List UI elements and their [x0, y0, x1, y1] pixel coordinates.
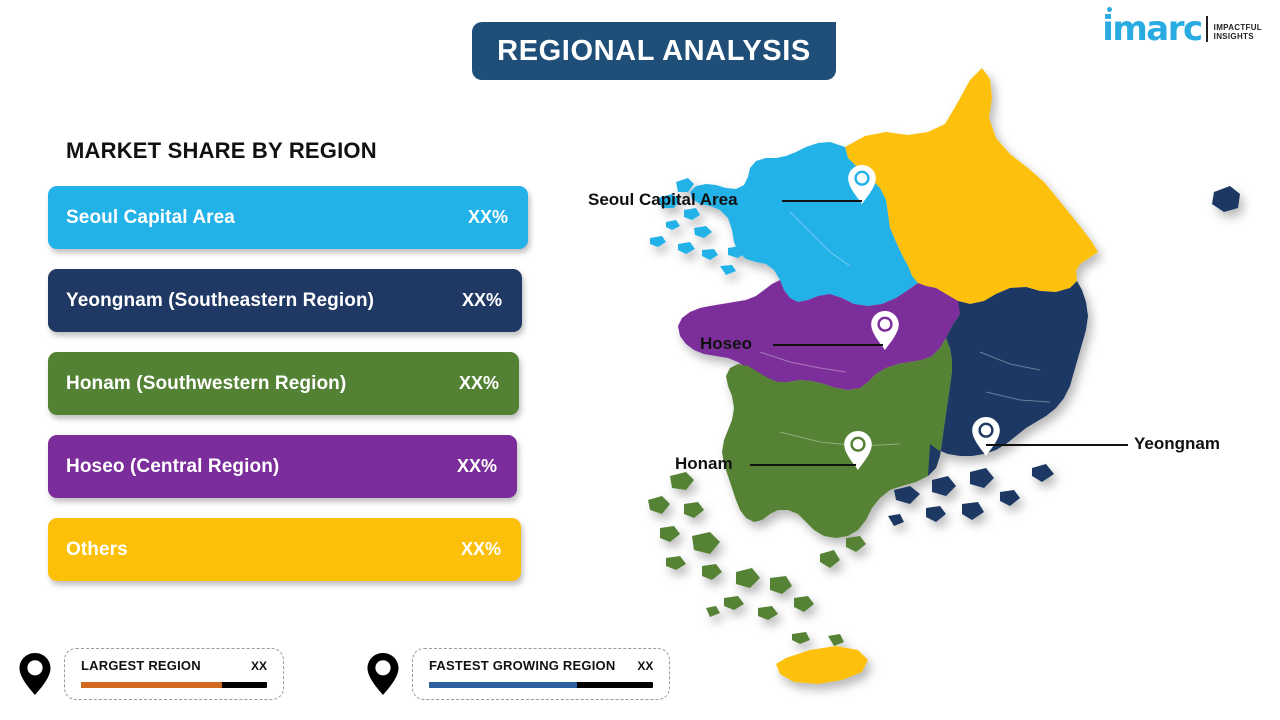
map-island-ulleungdo	[1212, 186, 1240, 212]
map-leader-line-honam	[750, 464, 856, 466]
logo-tagline-line1: IMPACTFUL	[1214, 23, 1262, 32]
largest-region-progress-track	[81, 682, 267, 688]
region-bar-row[interactable]: Yeongnam (Southeastern Region) XX%	[48, 269, 522, 332]
map-pin-icon	[366, 652, 400, 696]
region-bar-row[interactable]: Seoul Capital Area XX%	[48, 186, 528, 249]
fastest-growing-region-callout: FASTEST GROWING REGION XX	[366, 648, 670, 700]
region-value: XX%	[462, 290, 502, 311]
region-label: Yeongnam (Southeastern Region)	[66, 290, 374, 312]
map-leader-line-seoul	[782, 200, 862, 202]
fastest-growing-region-box: FASTEST GROWING REGION XX	[412, 648, 670, 700]
map-callout-label-yeongnam: Yeongnam	[1134, 434, 1220, 454]
fastest-growing-region-progress-track	[429, 682, 653, 688]
map-pin-icon	[18, 652, 52, 696]
region-value: XX%	[457, 456, 497, 477]
region-value: XX%	[459, 373, 499, 394]
fastest-growing-region-progress-fill	[429, 682, 577, 688]
region-label: Seoul Capital Area	[66, 207, 235, 229]
region-label: Hoseo (Central Region)	[66, 456, 279, 478]
region-bar-list: Seoul Capital Area XX% Yeongnam (Southea…	[48, 186, 528, 601]
region-bar-row[interactable]: Hoseo (Central Region) XX%	[48, 435, 517, 498]
map-island-jeju	[776, 646, 868, 684]
map-pin-hoseo[interactable]	[870, 310, 900, 352]
region-bar-row[interactable]: Honam (Southwestern Region) XX%	[48, 352, 519, 415]
map-callout-label-hoseo: Hoseo	[700, 334, 752, 354]
logo-tagline-line2: INSIGHTS	[1214, 32, 1262, 41]
region-label: Honam (Southwestern Region)	[66, 373, 346, 395]
map-callout-label-seoul-capital-area: Seoul Capital Area	[588, 190, 738, 210]
logo-wordmark: imarc	[1102, 9, 1201, 49]
map-leader-line-hoseo	[773, 344, 883, 346]
region-label: Others	[66, 539, 128, 561]
region-value: XX%	[468, 207, 508, 228]
logo-tagline: IMPACTFUL INSIGHTS	[1214, 23, 1262, 45]
logo-divider	[1206, 16, 1208, 42]
largest-region-box: LARGEST REGION XX	[64, 648, 284, 700]
fastest-growing-region-label: FASTEST GROWING REGION	[429, 658, 615, 673]
map-svg	[640, 52, 1280, 720]
largest-region-progress-fill	[81, 682, 222, 688]
map-pin-honam[interactable]	[843, 430, 873, 472]
map-pin-yeongnam[interactable]	[971, 416, 1001, 458]
panel-title: MARKET SHARE BY REGION	[66, 138, 377, 164]
map-leader-line-yeongnam	[986, 444, 1128, 446]
map-callout-label-honam: Honam	[675, 454, 733, 474]
korea-region-map: Seoul Capital Area Hoseo Honam Yeongnam	[640, 52, 1280, 720]
largest-region-value: XX	[251, 659, 267, 673]
largest-region-callout: LARGEST REGION XX	[18, 648, 284, 700]
region-bar-row[interactable]: Others XX%	[48, 518, 521, 581]
region-value: XX%	[461, 539, 501, 560]
imarc-logo: imarc IMPACTFUL INSIGHTS	[1102, 14, 1262, 45]
largest-region-label: LARGEST REGION	[81, 658, 201, 673]
